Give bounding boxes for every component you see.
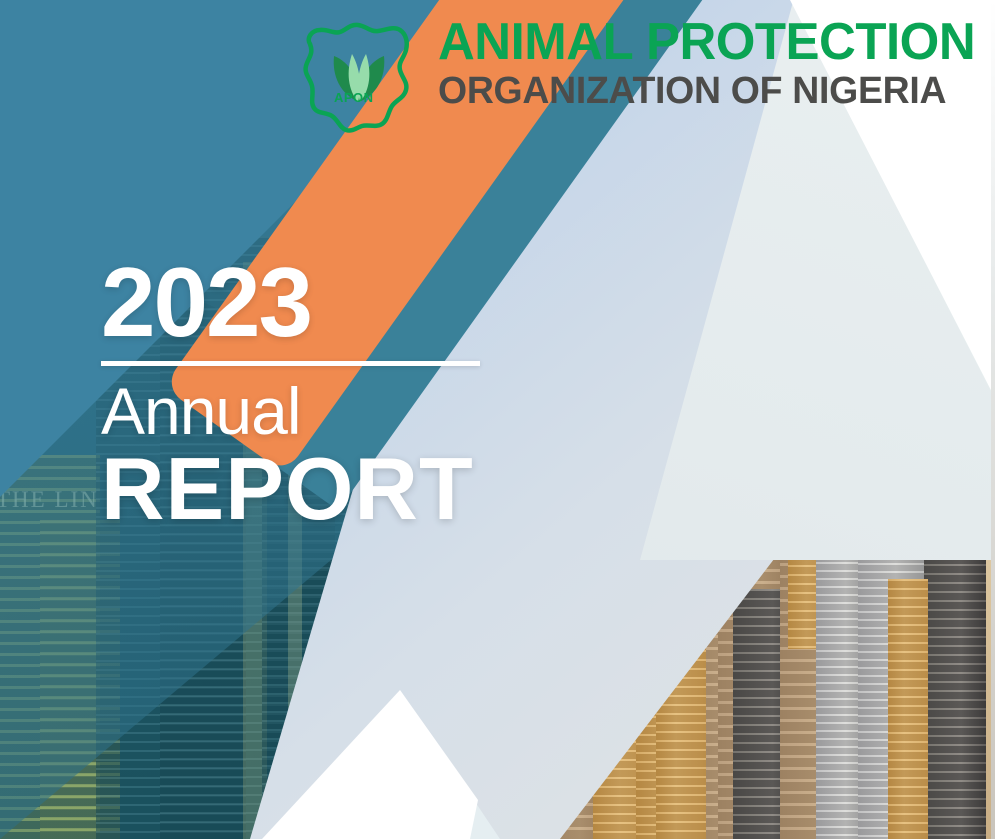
right-edge-strip bbox=[991, 0, 995, 839]
cover-title-block: 2023 Annual REPORT bbox=[101, 258, 521, 530]
brand-wordmark: ANIMAL PROTECTION ORGANIZATION OF NIGERI… bbox=[438, 18, 986, 110]
nigeria-map-leaves-logo: APON bbox=[296, 10, 422, 134]
report-heading: REPORT bbox=[101, 447, 521, 531]
brand-line-animal-protection: ANIMAL PROTECTION bbox=[438, 18, 975, 67]
organization-header: APON ANIMAL PROTECTION ORGANIZATION OF N… bbox=[296, 4, 986, 134]
report-year: 2023 bbox=[101, 258, 521, 346]
logo-acronym: APON bbox=[334, 90, 374, 105]
title-divider-rule bbox=[101, 361, 480, 366]
brand-line-organization-of-nigeria: ORGANIZATION OF NIGERIA bbox=[438, 72, 978, 110]
report-subtitle: Annual bbox=[101, 380, 521, 443]
report-cover-page: THE LIN CBD bbox=[0, 0, 995, 839]
